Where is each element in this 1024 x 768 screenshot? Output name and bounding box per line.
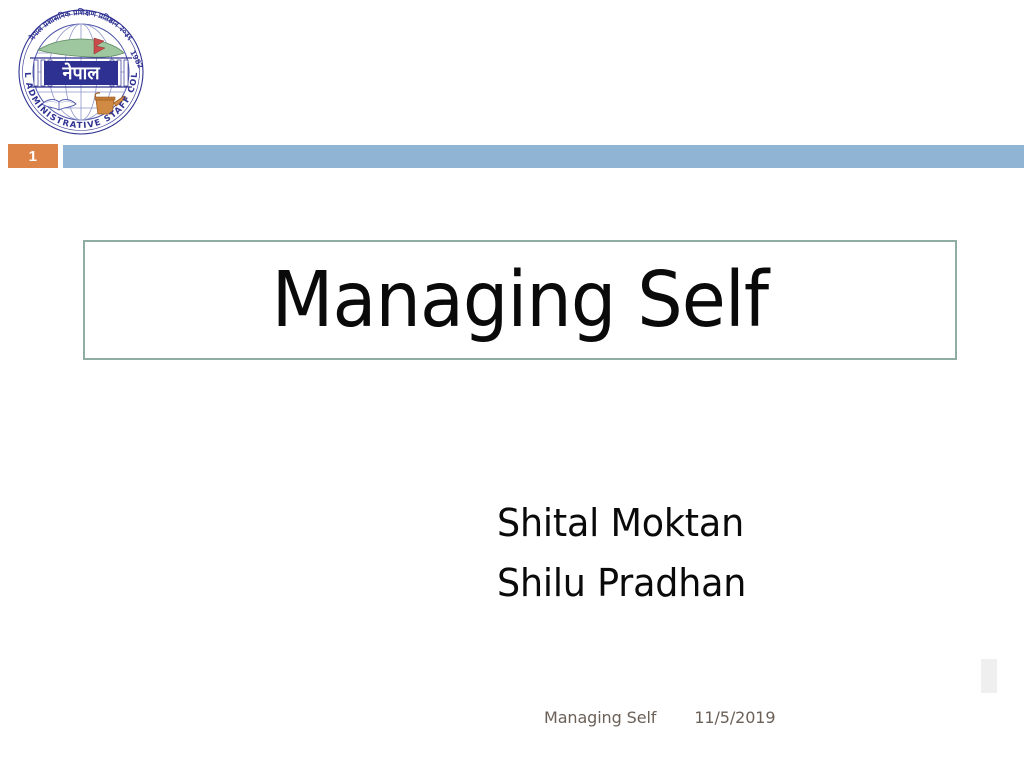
- presentation-slide: नेपाल नेपाल प्रशास: [0, 0, 1024, 768]
- slide-number-badge: 1: [8, 144, 58, 168]
- svg-text:नेपाल: नेपाल: [61, 62, 100, 84]
- placeholder-block: [981, 659, 997, 693]
- title-box: Managing Self: [83, 240, 957, 360]
- slide-footer: Managing Self 11/5/2019: [544, 708, 775, 727]
- header-accent-bar: [63, 145, 1024, 168]
- author-list: Shital Moktan Shilu Pradhan: [497, 493, 957, 613]
- footer-date: 11/5/2019: [694, 708, 775, 727]
- footer-title: Managing Self: [544, 708, 656, 727]
- author-name: Shital Moktan: [497, 493, 939, 553]
- slide-number-text: 1: [29, 149, 38, 164]
- author-name: Shilu Pradhan: [497, 553, 939, 613]
- college-logo: नेपाल नेपाल प्रशास: [8, 6, 154, 138]
- slide-title: Managing Self: [272, 262, 768, 339]
